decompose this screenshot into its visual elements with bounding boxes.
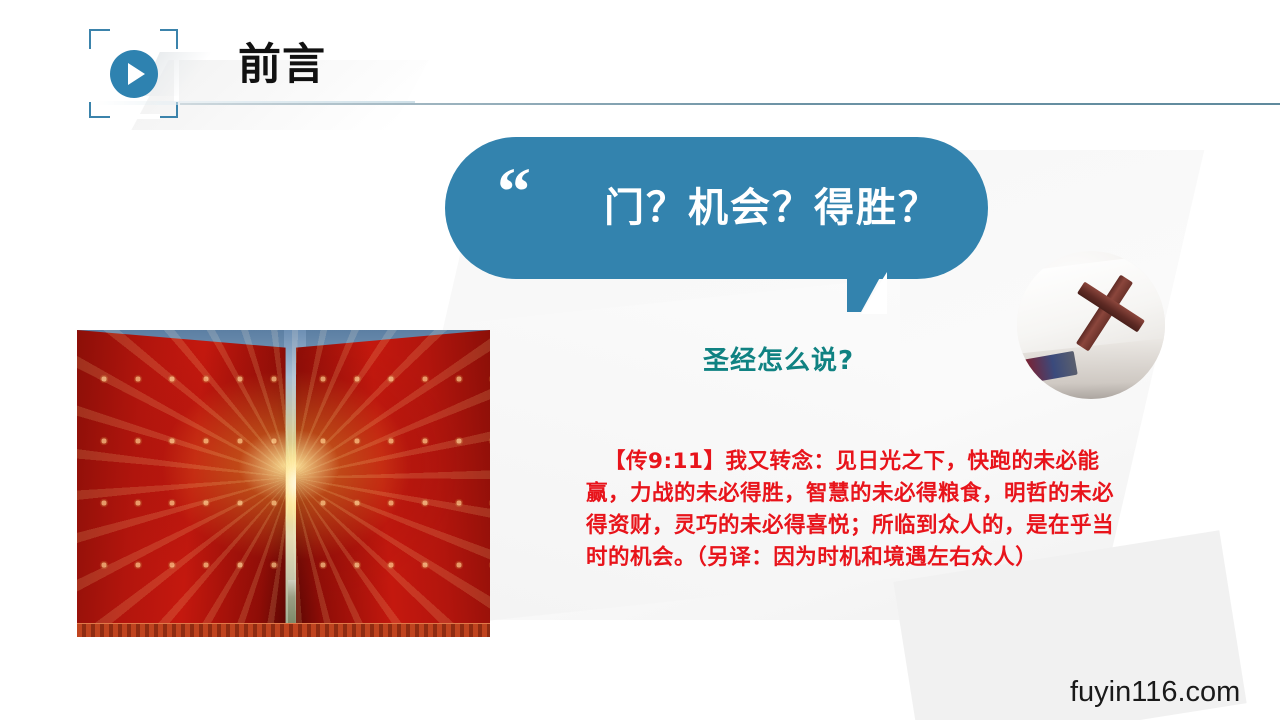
speech-bubble: “ 门？机会？得胜？ [445,137,988,279]
door-floor-strip [77,623,490,637]
cross-on-bible-image [1017,251,1165,399]
bible-verse-text: 【传9:11】我又转念：见日光之下，快跑的未必能赢，力战的未必得胜，智慧的未必得… [586,446,1131,574]
frame-gap-bottom [110,114,160,119]
door-light-rays [77,330,490,637]
bible-question-subheading: 圣经怎么说? [703,340,854,377]
header-divider [180,103,1280,105]
play-triangle-icon [128,63,145,85]
red-gate-doors-image [77,330,490,637]
quote-mark-icon: “ [497,157,531,225]
page-title: 前言 [238,44,326,87]
site-watermark: fuyin116.com [1070,676,1240,709]
slide-header: 前言 [0,0,1280,115]
speech-bubble-text: 门？机会？得胜？ [567,175,977,233]
play-icon[interactable] [110,50,158,98]
frame-gap-top [110,28,160,33]
speech-bubble-tail-cut [861,272,887,314]
